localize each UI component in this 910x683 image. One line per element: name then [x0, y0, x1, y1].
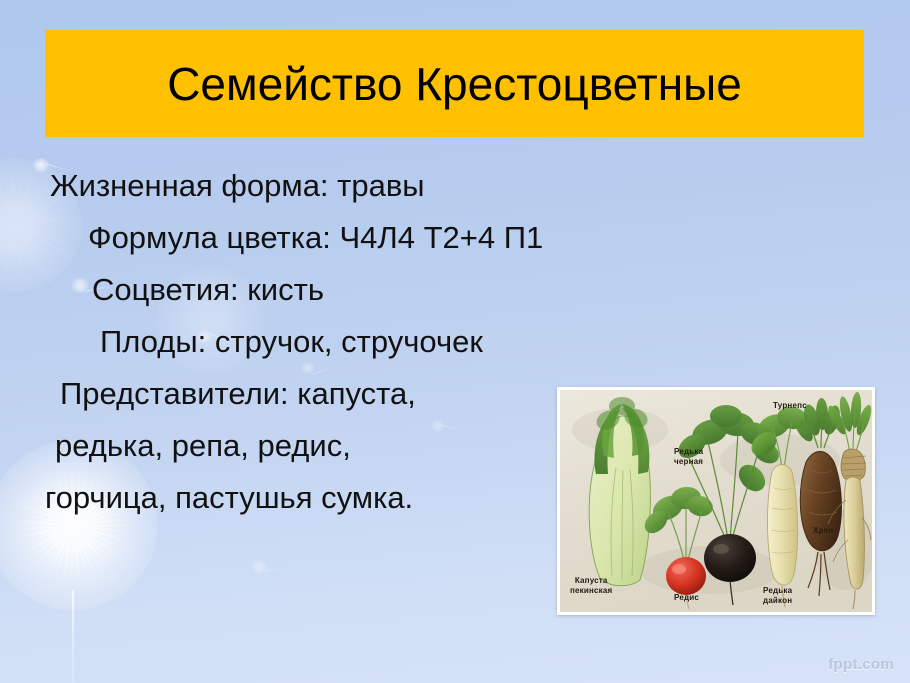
dandelion-stem	[72, 590, 74, 683]
body-text-block: Жизненная форма: травы Формула цветка: Ч…	[0, 160, 560, 524]
veg-label-turnip: Турнепс	[773, 401, 807, 411]
body-line-life-form: Жизненная форма: травы	[0, 160, 560, 212]
title-banner: Семейство Крестоцветные	[45, 30, 864, 137]
slide-canvas: Семейство Крестоцветные Жизненная форма:…	[0, 0, 910, 683]
veg-label-napa-cabbage: Капуста пекинская	[570, 576, 612, 595]
body-line-representatives-2: редька, репа, редис,	[0, 420, 560, 472]
dandelion-seed-icon	[250, 560, 292, 577]
watermark-fppt: fppt.com	[828, 656, 894, 673]
veg-label-black-radish: Редька черная	[674, 447, 703, 466]
veg-label-daikon: Редька дайкон	[763, 586, 792, 605]
body-line-representatives-3: горчица, пастушья сумка.	[0, 472, 560, 524]
body-line-fruits: Плоды: стручок, стручочек	[0, 316, 560, 368]
napa-cabbage-drawing	[589, 397, 650, 586]
veg-label-radish: Редис	[674, 593, 699, 603]
veg-label-horseradish: Хрен	[813, 526, 833, 536]
page-title: Семейство Крестоцветные	[167, 61, 742, 107]
body-line-flower-formula: Формула цветка: Ч4Л4 Т2+4 П1	[0, 212, 560, 264]
cruciferous-vegetables-illustration: Капуста пекинская Редис Редька черная Ре…	[557, 387, 875, 615]
body-line-representatives-1: Представители: капуста,	[0, 368, 560, 420]
body-line-inflorescence: Соцветия: кисть	[0, 264, 560, 316]
